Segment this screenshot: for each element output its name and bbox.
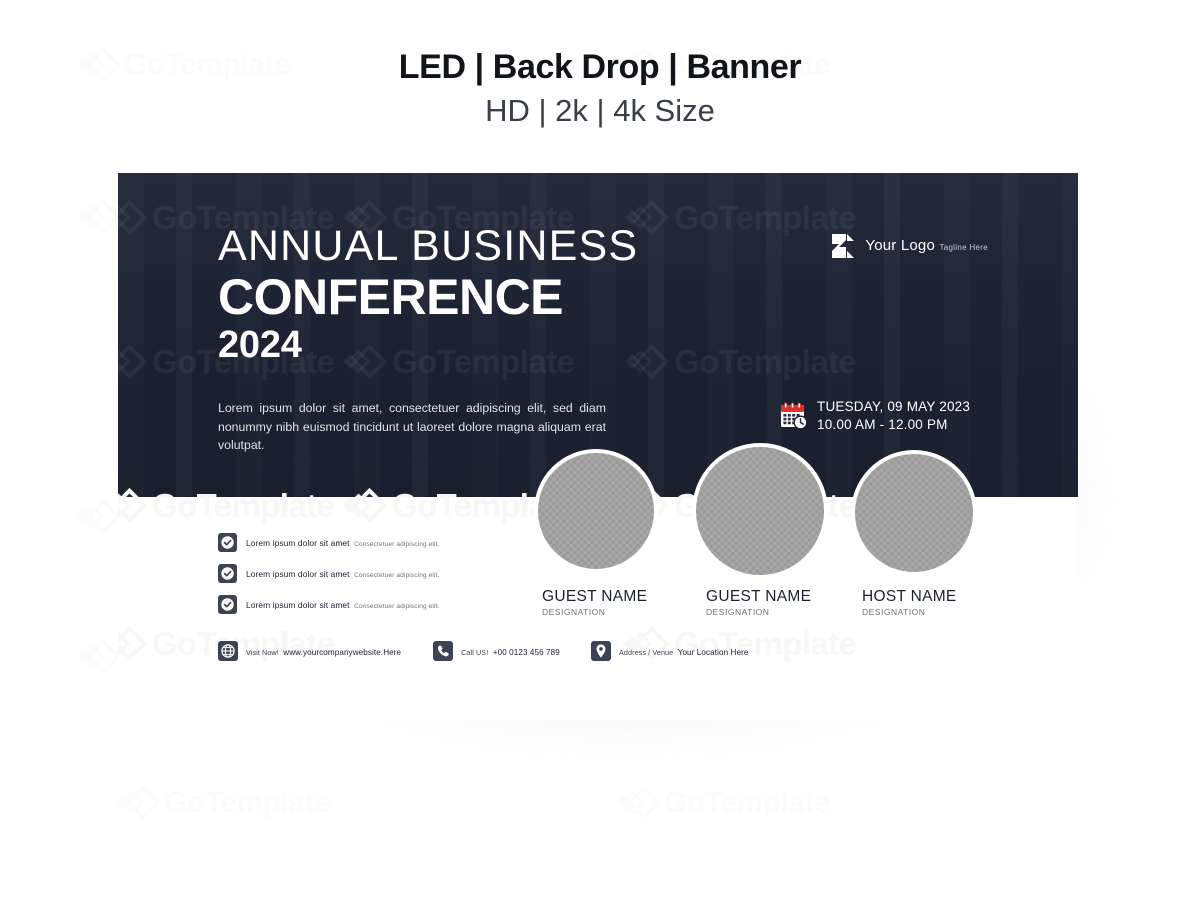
diamond-logo-icon [80,200,114,234]
checklist-item-title: Lorem ipsum dolor sit amet [246,600,350,610]
speaker-caption: HOST NAME DESIGNATION [836,588,996,617]
preview-page: GoTemplate GoTemplate GoTemplate GoTempl… [0,0,1200,900]
brand-logo[interactable]: Your Logo Tagline Here [830,232,988,260]
diamond-logo-icon [80,500,114,534]
event-time: 10.00 AM - 12.00 PM [817,417,948,432]
location-icon [591,641,611,661]
checklist-item: Lorem ipsum dolor sit amet Consectetuer … [218,595,439,614]
diamond-logo-icon [118,345,140,379]
hero-headline-group: ANNUAL BUSINESS CONFERENCE 2024 [218,225,638,366]
hero-watermark-text: GoTemplate [674,199,856,237]
speaker-name: GUEST NAME [680,588,840,605]
contact-label: Address / Venue [619,648,673,657]
checklist-item-subtitle: Consectetuer adipiscing elit. [354,541,439,548]
check-circle-icon [218,564,237,583]
speaker-name: HOST NAME [836,588,996,605]
checklist-item-subtitle: Consectetuer adipiscing elit. [354,603,439,610]
checklist-item-title: Lorem ipsum dolor sit amet [246,538,350,548]
checklist-item-text: Lorem ipsum dolor sit amet Consectetuer … [246,533,439,551]
contact-website[interactable]: Visit Now! www.yourcompanywebsite.Here [218,641,401,661]
contact-phone[interactable]: Call US! +00 0123 456 789 [433,641,560,661]
contact-value: www.yourcompanywebsite.Here [283,648,401,657]
speaker-designation: DESIGNATION [516,607,676,617]
contact-phone-text: Call US! +00 0123 456 789 [461,642,560,660]
brand-tagline: Tagline Here [939,243,988,252]
brand-name: Your Logo [865,237,935,254]
z-monogram-logo-icon [830,232,856,260]
speaker-designation: DESIGNATION [836,607,996,617]
hero-watermark-text: GoTemplate [674,343,856,381]
contact-label: Call US! [461,648,488,657]
page-subtitle: HD | 2k | 4k Size [0,91,1200,131]
checklist-item-text: Lorem ipsum dolor sit amet Consectetuer … [246,564,439,582]
speaker-designation: DESIGNATION [680,607,840,617]
checklist-item-subtitle: Consectetuer adipiscing elit. [354,572,439,579]
checklist-item: Lorem ipsum dolor sit amet Consectetuer … [218,564,439,583]
brand-logo-text: Your Logo Tagline Here [865,237,988,255]
checklist-item-title: Lorem ipsum dolor sit amet [246,569,350,579]
diamond-logo-icon [620,786,654,820]
event-date: TUESDAY, 09 MAY 2023 [817,399,970,414]
diamond-logo-icon [80,640,114,674]
globe-icon [218,641,238,661]
contact-address-text: Address / Venue Your Location Here [619,642,749,660]
banner-card: GoTemplate GoTemplate GoTemplate GoTempl… [118,173,1078,720]
page-header: LED | Back Drop | Banner HD | 2k | 4k Si… [0,48,1200,131]
page-watermark-text: GoTemplate [164,786,330,820]
page-watermark: GoTemplate [120,786,330,820]
contact-value: +00 0123 456 789 [493,648,560,657]
hero-title: CONFERENCE [218,271,638,324]
page-watermark-text: GoTemplate [664,786,830,820]
contact-address[interactable]: Address / Venue Your Location Here [591,641,749,661]
page-title: LED | Back Drop | Banner [0,48,1200,87]
hero-year: 2024 [218,326,638,366]
hero-watermark: GoTemplate [628,343,856,381]
contact-label: Visit Now! [246,648,279,657]
hero-watermark: GoTemplate [628,199,856,237]
contact-value: Your Location Here [678,648,749,657]
event-datetime-text: TUESDAY, 09 MAY 2023 10.00 AM - 12.00 PM [817,398,1078,434]
checklist-item-text: Lorem ipsum dolor sit amet Consectetuer … [246,595,439,613]
feature-checklist: Lorem ipsum dolor sit amet Consectetuer … [218,533,439,626]
event-datetime: TUESDAY, 09 MAY 2023 10.00 AM - 12.00 PM [780,398,1078,434]
check-circle-icon [218,533,237,552]
contact-website-text: Visit Now! www.yourcompanywebsite.Here [246,642,401,660]
page-watermark: GoTemplate [620,786,830,820]
contact-group-address: Address / Venue Your Location Here [591,641,749,661]
phone-icon [433,641,453,661]
diamond-logo-icon [120,786,154,820]
hero-paragraph: Lorem ipsum dolor sit amet, consectetuer… [218,399,606,455]
check-circle-icon [218,595,237,614]
speaker-caption: GUEST NAME DESIGNATION [680,588,840,617]
speaker-photo-placeholder[interactable] [851,450,977,576]
contact-group-left: Visit Now! www.yourcompanywebsite.Here C… [218,641,560,661]
checklist-item: Lorem ipsum dolor sit amet Consectetuer … [218,533,439,552]
speaker-caption: GUEST NAME DESIGNATION [516,588,676,617]
speaker-photo-placeholder[interactable] [692,443,828,579]
hero-eyebrow: ANNUAL BUSINESS [218,225,638,269]
speaker-name: GUEST NAME [516,588,676,605]
speaker-photo-placeholder[interactable] [534,449,658,573]
calendar-clock-icon [780,402,808,430]
diamond-logo-icon [118,201,140,235]
diamond-logo-icon [118,627,140,661]
